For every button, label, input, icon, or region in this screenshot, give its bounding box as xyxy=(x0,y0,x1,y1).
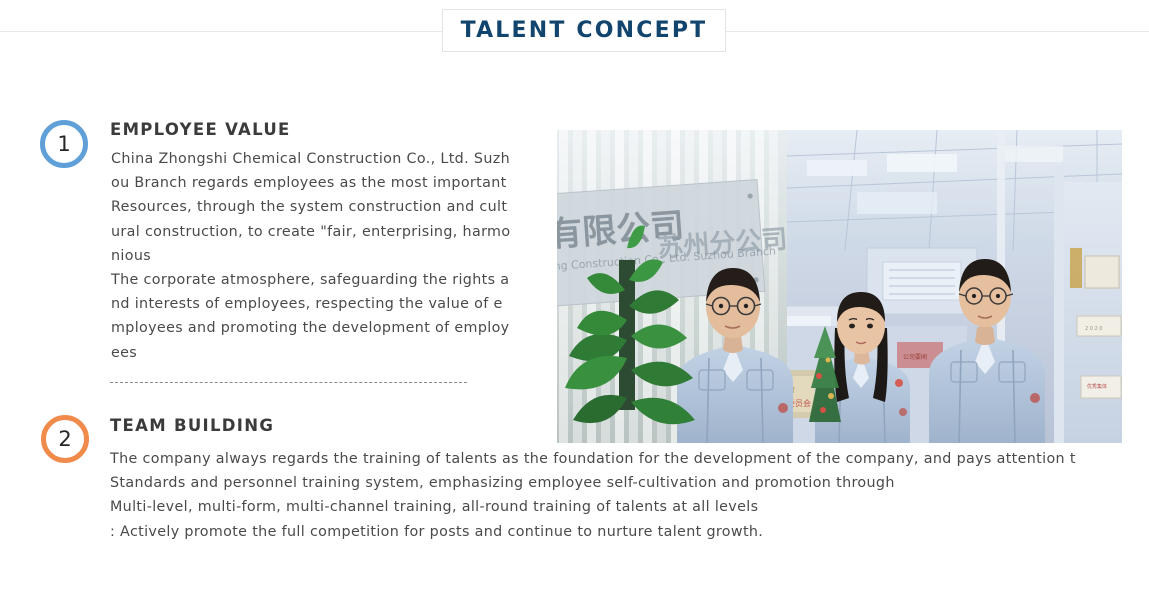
section-number-2: 2 xyxy=(58,427,71,451)
section-body-team-building: The company always regards the training … xyxy=(110,447,1076,544)
svg-text:2 0 2 0: 2 0 2 0 xyxy=(1085,326,1103,332)
section-number-1: 1 xyxy=(57,132,70,156)
page-header: TALENT CONCEPT xyxy=(0,0,1149,62)
page-title-box: TALENT CONCEPT xyxy=(442,9,726,52)
section-number-badge-2: 2 xyxy=(41,415,89,463)
office-team-photo: 公司荣誉 优秀职工委员会 公司要闻 xyxy=(557,130,1122,443)
content-area: 1 EMPLOYEE VALUE China Zhongshi Chemical… xyxy=(0,62,1149,601)
header-rule-left xyxy=(0,31,442,32)
svg-text:公司要闻: 公司要闻 xyxy=(903,353,927,361)
section-body-employee-value: China Zhongshi Chemical Construction Co.… xyxy=(111,147,510,365)
svg-text:优秀集体: 优秀集体 xyxy=(1087,383,1107,390)
section-divider xyxy=(110,382,467,383)
page-title: TALENT CONCEPT xyxy=(461,20,708,42)
section-heading-team-building: TEAM BUILDING xyxy=(110,418,274,435)
section-number-badge-1: 1 xyxy=(40,120,88,168)
section-heading-employee-value: EMPLOYEE VALUE xyxy=(110,122,291,139)
header-rule-right xyxy=(726,31,1149,32)
